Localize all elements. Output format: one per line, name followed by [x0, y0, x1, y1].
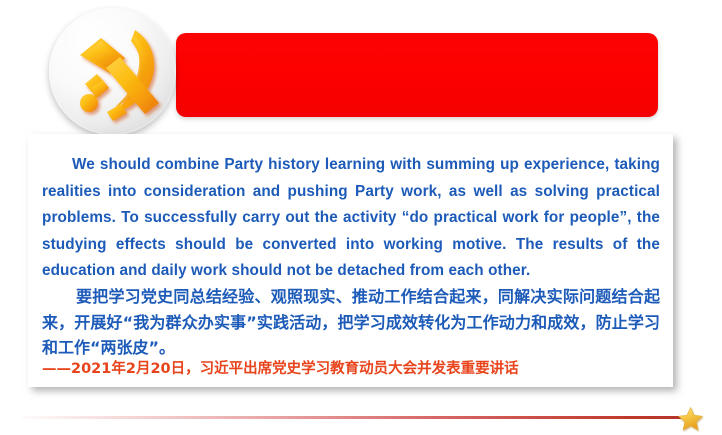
- quote-attribution: ——2021年2月20日，习近平出席党史学习教育动员大会并发表重要讲话: [42, 359, 660, 379]
- hammer-and-sickle-icon: [49, 8, 176, 135]
- footer-divider-rule: [22, 416, 682, 419]
- quote-content-panel: We should combine Party history learning…: [28, 134, 673, 387]
- slide-root: We should combine Party history learning…: [0, 0, 722, 435]
- english-quote-paragraph: We should combine Party history learning…: [42, 152, 660, 285]
- red-title-banner: [176, 33, 658, 117]
- party-emblem: [49, 8, 176, 135]
- gold-star-icon: [677, 405, 704, 432]
- chinese-quote-paragraph: 要把学习党史同总结经验、观照现实、推动工作结合起来，同解决实际问题结合起来，开展…: [42, 284, 660, 361]
- header-banner-area: [0, 0, 722, 140]
